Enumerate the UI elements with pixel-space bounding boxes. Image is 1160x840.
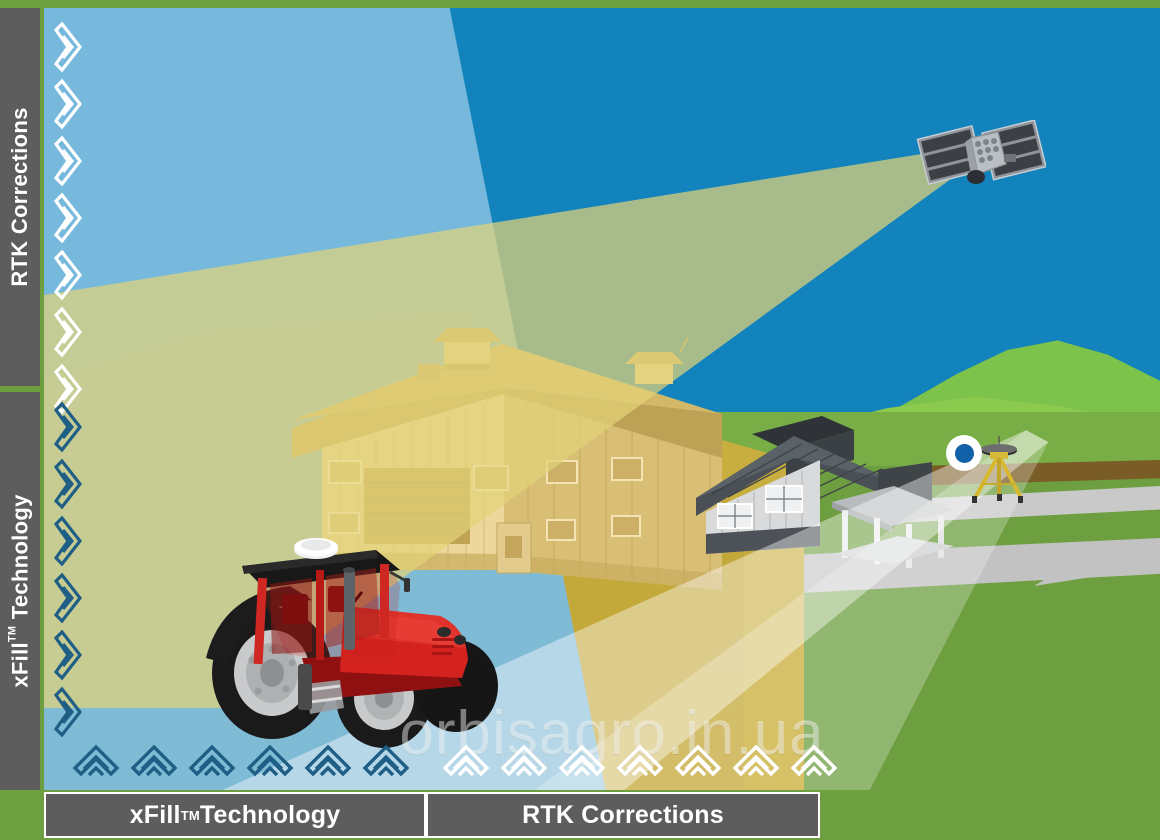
sidebar-xfill-technology: xFillTM Technology	[0, 392, 40, 790]
wifi-icon	[246, 742, 294, 782]
signal-arc-icon	[50, 685, 90, 739]
satellite	[916, 120, 1046, 204]
reference-point	[946, 435, 982, 471]
signal-arc-icon	[50, 248, 90, 302]
legend-bar: xFillTM Technology RTK Corrections	[44, 792, 820, 838]
wifi-icon	[616, 742, 664, 782]
signal-arc-icon	[50, 571, 90, 625]
wifi-icon	[732, 742, 780, 782]
sidebar-xfill-label: xFillTM Technology	[6, 494, 33, 687]
sidebar-rtk-corrections: RTK Corrections	[0, 8, 40, 386]
legend-rtk: RTK Corrections	[426, 792, 820, 838]
wifi-icon	[130, 742, 178, 782]
signal-arc-icon	[50, 20, 90, 74]
signal-arc-icon	[50, 457, 90, 511]
signal-arc-icon	[50, 77, 90, 131]
xfill-wifi-row	[72, 742, 410, 782]
diagram-canvas: orbisagro.in.ua RTK Corrections xFillTM …	[0, 0, 1160, 840]
wifi-icon	[188, 742, 236, 782]
trademark-mark: TM	[6, 626, 18, 642]
legend-xfill-prefix: xFill	[130, 801, 181, 830]
rtk-wifi-row	[442, 742, 838, 782]
wifi-icon	[304, 742, 352, 782]
tractor	[194, 508, 524, 748]
legend-xfill: xFillTM Technology	[44, 792, 426, 838]
signal-arc-icon	[50, 134, 90, 188]
wifi-icon	[500, 742, 548, 782]
legend-xfill-suffix: Technology	[200, 801, 340, 830]
signal-arc-icon	[50, 305, 90, 359]
sidebar-xfill-suffix: Technology	[8, 494, 33, 625]
rtk-signal-glyph-column	[50, 20, 94, 419]
sidebar-xfill-prefix: xFill	[8, 642, 33, 688]
wifi-icon	[442, 742, 490, 782]
wifi-icon	[674, 742, 722, 782]
xfill-signal-glyph-column	[50, 400, 94, 742]
illustration-scene: orbisagro.in.ua	[44, 8, 1160, 790]
trademark-mark: TM	[181, 808, 200, 823]
wifi-icon	[558, 742, 606, 782]
wifi-icon	[362, 742, 410, 782]
signal-arc-icon	[50, 628, 90, 682]
wifi-icon	[790, 742, 838, 782]
signal-arc-icon	[50, 400, 90, 454]
signal-arc-icon	[50, 191, 90, 245]
sidebar-rtk-label: RTK Corrections	[7, 107, 33, 286]
wifi-icon	[72, 742, 120, 782]
signal-arc-icon	[50, 514, 90, 568]
